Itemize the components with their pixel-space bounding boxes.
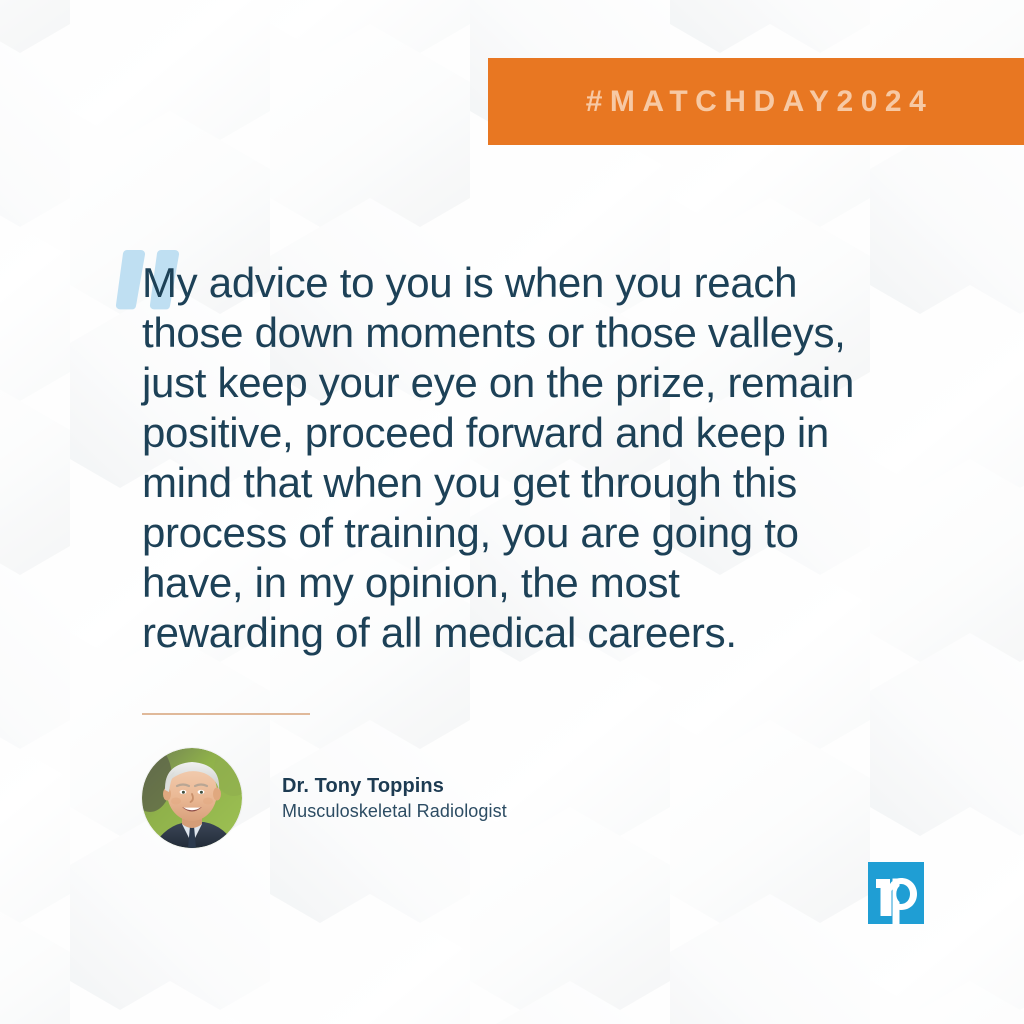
quote-card: #MATCHDAY2024 My advice to you is when y… bbox=[0, 0, 1024, 1024]
attribution-text: Dr. Tony Toppins Musculoskeletal Radiolo… bbox=[282, 773, 507, 823]
person-name: Dr. Tony Toppins bbox=[282, 773, 507, 799]
hashtag-text: #MATCHDAY2024 bbox=[579, 85, 934, 119]
divider-rule bbox=[142, 713, 310, 715]
quote-text: My advice to you is when you reach those… bbox=[142, 258, 942, 658]
quote-line: just keep your eye on the prize, remain bbox=[142, 358, 942, 408]
quote-line: positive, proceed forward and keep in bbox=[142, 408, 942, 458]
quote-line: those down moments or those valleys, bbox=[142, 308, 942, 358]
quote-line: have, in my opinion, the most bbox=[142, 558, 942, 608]
quote-line: mind that when you get through this bbox=[142, 458, 942, 508]
quote-line: rewarding of all medical careers. bbox=[142, 608, 942, 658]
person-title: Musculoskeletal Radiologist bbox=[282, 799, 507, 823]
attribution-block: Dr. Tony Toppins Musculoskeletal Radiolo… bbox=[142, 748, 507, 848]
rp-logo-icon bbox=[868, 862, 924, 924]
quote-line: My advice to you is when you reach bbox=[142, 258, 942, 308]
avatar bbox=[142, 748, 242, 848]
quote-line: process of training, you are going to bbox=[142, 508, 942, 558]
hashtag-banner: #MATCHDAY2024 bbox=[488, 58, 1024, 145]
